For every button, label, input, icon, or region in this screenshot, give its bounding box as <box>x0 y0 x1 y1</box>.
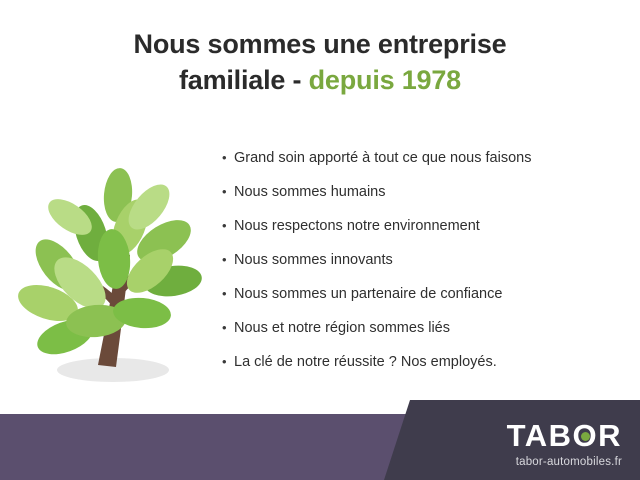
bullet-marker-icon: • <box>222 284 234 304</box>
list-item-label: Nous et notre région sommes liés <box>234 318 450 338</box>
bullet-marker-icon: • <box>222 216 234 236</box>
bullet-list: • Grand soin apporté à tout ce que nous … <box>222 148 622 386</box>
brand-suffix: R <box>598 418 622 453</box>
slide-root: Nous sommes une entreprise familiale - d… <box>0 0 640 480</box>
list-item-label: Nous sommes un partenaire de confiance <box>234 284 502 304</box>
page-title: Nous sommes une entreprise familiale - d… <box>0 26 640 98</box>
tree-illustration <box>18 155 208 390</box>
tree-svg <box>18 155 208 390</box>
list-item: • Nous sommes un partenaire de confiance <box>222 284 622 304</box>
list-item-label: Nous sommes innovants <box>234 250 393 270</box>
footer-bar-left <box>0 414 448 480</box>
bullet-marker-icon: • <box>222 148 234 168</box>
bullet-marker-icon: • <box>222 182 234 202</box>
title-line-2: familiale - depuis 1978 <box>0 62 640 98</box>
list-item-label: Grand soin apporté à tout ce que nous fa… <box>234 148 531 168</box>
tree-leaves-icon <box>18 167 204 361</box>
bullet-marker-icon: • <box>222 250 234 270</box>
title-line-2-main: familiale - <box>179 65 309 95</box>
brand-name: TABOR <box>507 420 622 452</box>
list-item: • Nous sommes innovants <box>222 250 622 270</box>
list-item: • Grand soin apporté à tout ce que nous … <box>222 148 622 168</box>
list-item-label: La clé de notre réussite ? Nos employés. <box>234 352 497 372</box>
brand-letter-o: O <box>572 420 598 452</box>
title-line-1: Nous sommes une entreprise <box>0 26 640 62</box>
list-item: • Nous respectons notre environnement <box>222 216 622 236</box>
brand-website: tabor-automobiles.fr <box>516 456 622 468</box>
bullet-marker-icon: • <box>222 352 234 372</box>
brand-logo: TABOR <box>507 420 622 452</box>
list-item: • Nous et notre région sommes liés <box>222 318 622 338</box>
list-item-label: Nous respectons notre environnement <box>234 216 480 236</box>
list-item: • La clé de notre réussite ? Nos employé… <box>222 352 622 372</box>
list-item-label: Nous sommes humains <box>234 182 386 202</box>
footer-bar-notch <box>384 400 410 480</box>
list-item: • Nous sommes humains <box>222 182 622 202</box>
title-accent-year: depuis 1978 <box>309 65 461 95</box>
brand-prefix: TAB <box>507 418 573 453</box>
bullet-marker-icon: • <box>222 318 234 338</box>
